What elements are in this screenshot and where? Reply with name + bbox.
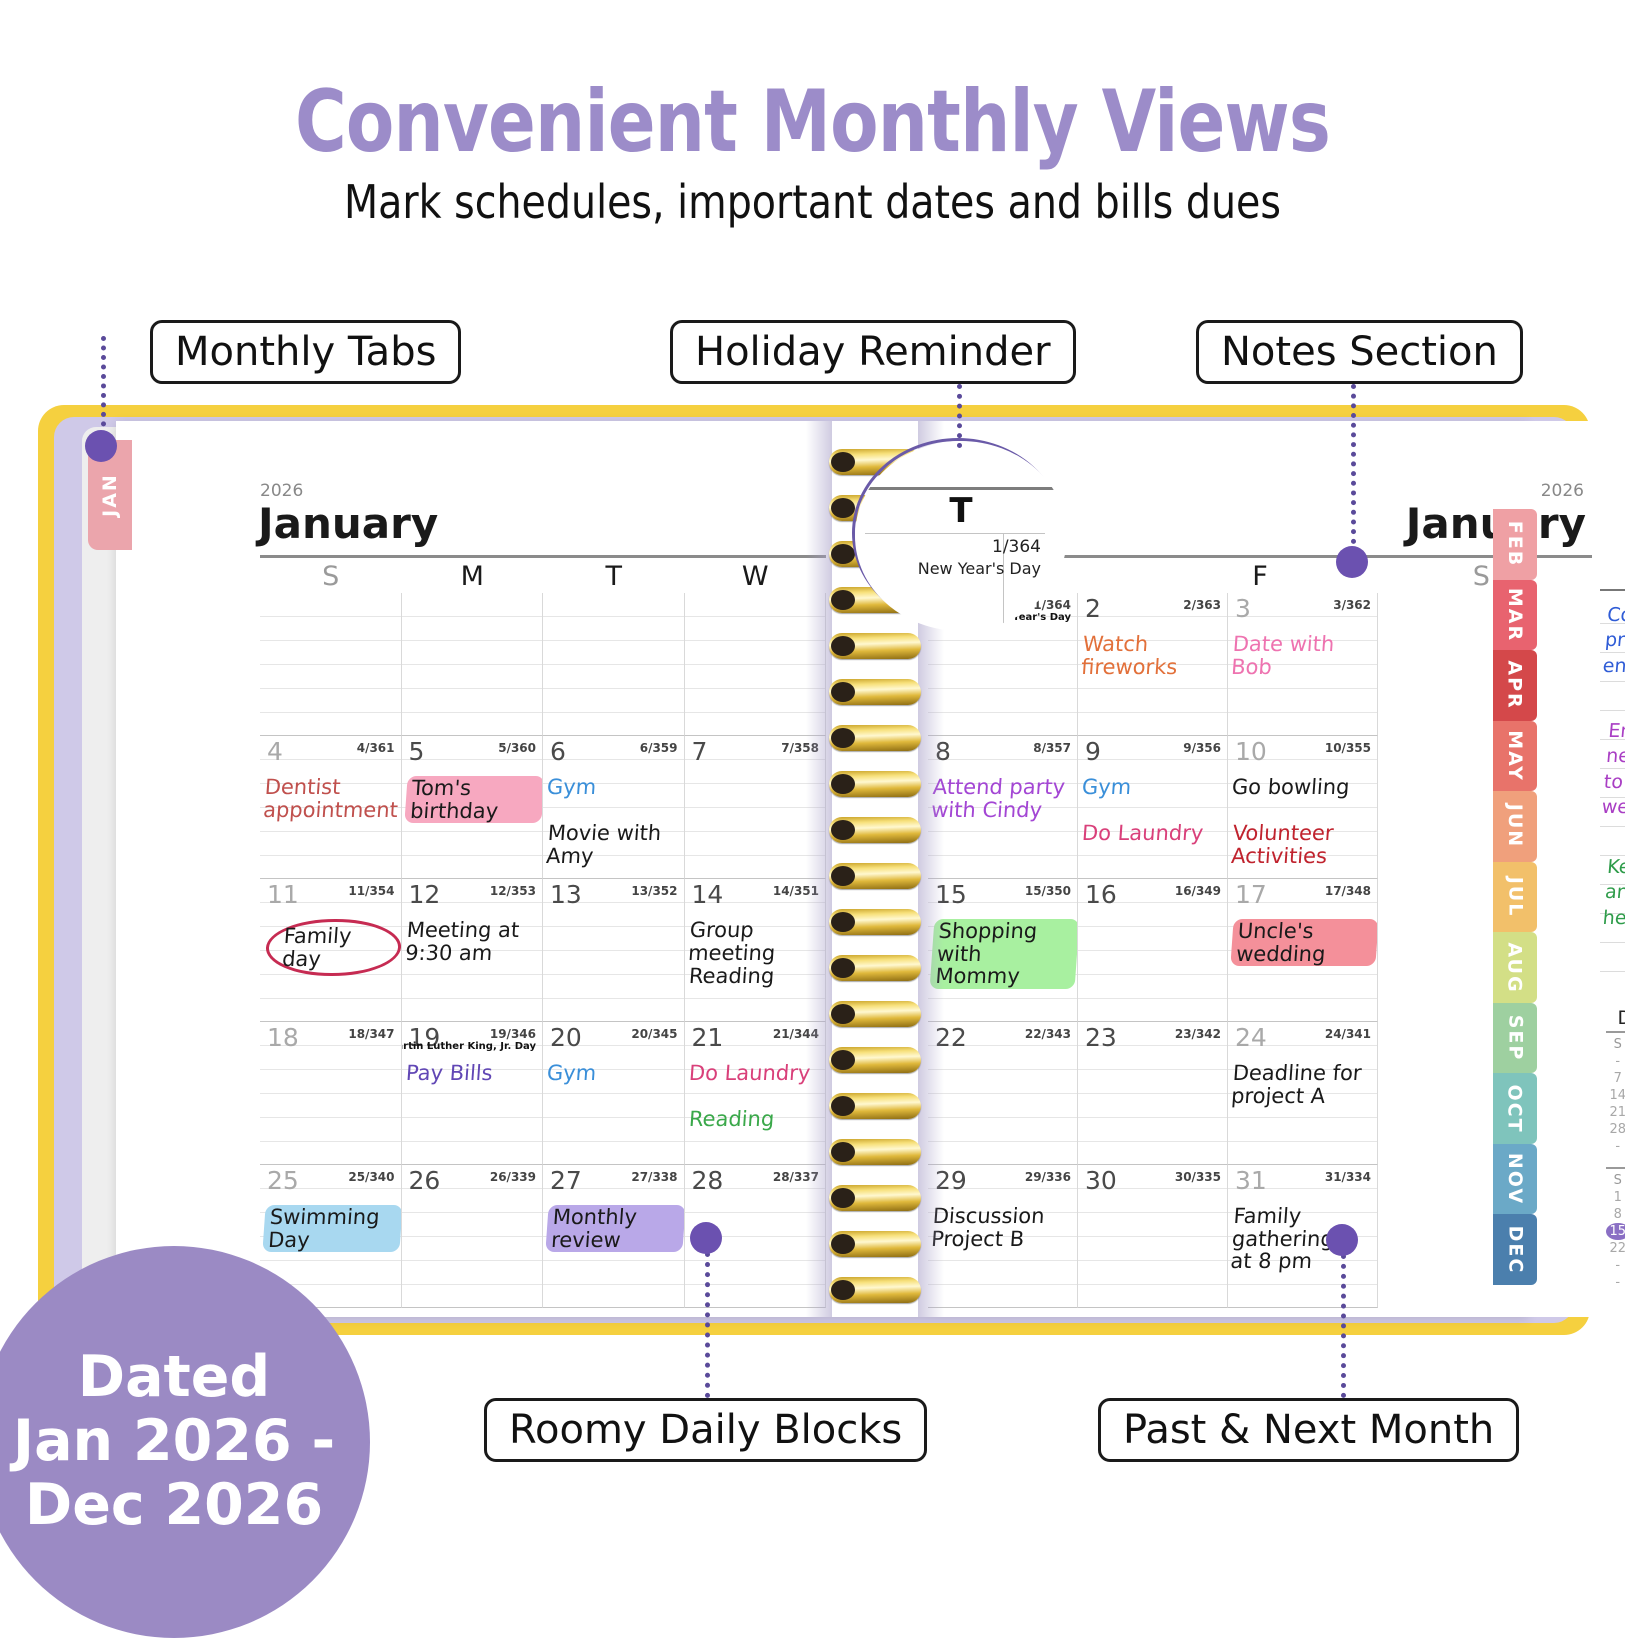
day-cell-29[interactable]: 2929/336Discussion Project B — [928, 1165, 1078, 1308]
day-cell-5[interactable]: 55/360Tom's birthday — [402, 736, 544, 879]
spiral-coil — [829, 863, 921, 889]
day-entry[interactable]: Monthly review — [545, 1205, 684, 1252]
month-tab-oct[interactable]: OCT — [1493, 1073, 1537, 1144]
mini-day[interactable]: - — [1606, 1053, 1625, 1070]
spiral-coil — [829, 1231, 921, 1257]
magnifier-holiday-name: New Year's Day — [855, 559, 1041, 578]
month-tab-label: MAR — [1504, 588, 1526, 642]
day-cell-21[interactable]: 2121/344Do LaundryReading — [685, 1022, 827, 1165]
day-number: 21 — [692, 1023, 724, 1052]
day-entry[interactable]: Gym — [546, 776, 597, 799]
day-number: 28 — [692, 1166, 724, 1195]
day-entry[interactable]: Shopping with Mommy — [930, 919, 1078, 989]
spiral-coil — [829, 955, 921, 981]
page-subtitle: Mark schedules, important dates and bill… — [114, 175, 1512, 229]
leader-line-roomy — [705, 1252, 710, 1398]
day-number: 26 — [409, 1166, 441, 1195]
day-entry[interactable]: Reading — [688, 965, 775, 988]
magnifier-rule — [863, 487, 1059, 490]
left-day-of-week-row: SMTW — [260, 559, 826, 593]
day-number: 27 — [550, 1166, 582, 1195]
day-entry[interactable]: Date with Bob — [1230, 633, 1335, 678]
day-number: 2 — [1085, 594, 1101, 623]
day-of-year: 15/350 — [1025, 884, 1071, 898]
day-number: 9 — [1085, 737, 1101, 766]
spiral-coil — [829, 679, 921, 705]
day-number: 12 — [409, 880, 441, 909]
spiral-coil — [829, 1277, 921, 1303]
callout-monthly-tabs: Monthly Tabs — [150, 320, 461, 384]
mini-calendar-table: SMTWTFS-12345678910111213141516171819202… — [1606, 1036, 1625, 1155]
holiday-magnifier: T 1/364 New Year's Day — [852, 438, 1064, 628]
day-number: 25 — [267, 1166, 299, 1195]
day-number: 5 — [409, 737, 425, 766]
day-cell-rules — [402, 593, 543, 735]
spiral-coil — [829, 725, 921, 751]
leader-dot-pastnext — [1326, 1224, 1358, 1256]
day-of-year: 3/362 — [1333, 598, 1371, 612]
month-tab-label: JUN — [1504, 804, 1526, 848]
day-number: 29 — [935, 1166, 967, 1195]
day-cell-empty[interactable] — [685, 593, 827, 736]
day-cell-20[interactable]: 2020/345Gym — [543, 1022, 685, 1165]
day-cell-11[interactable]: 1111/354Family day — [260, 879, 402, 1022]
left-page: 2026 January SMTW 44/361Dentist appointm… — [194, 421, 830, 1317]
month-tab-dec[interactable]: DEC — [1493, 1214, 1537, 1285]
day-entry[interactable]: Gym — [546, 1062, 597, 1085]
day-cell-27[interactable]: 2727/338Monthly review — [543, 1165, 685, 1308]
day-entry[interactable]: Do Laundry — [688, 1062, 811, 1085]
dow-s-2: S — [1371, 559, 1592, 593]
day-cell-14[interactable]: 1414/351Group meetingReading — [685, 879, 827, 1022]
day-cell-3[interactable]: 33/362Date with Bob — [1228, 593, 1378, 736]
day-cell-13[interactable]: 1313/352 — [543, 879, 685, 1022]
day-entry[interactable]: Volunteer Activities — [1230, 822, 1334, 867]
day-cell-4[interactable]: 44/361Dentist appointment — [260, 736, 402, 879]
spiral-coil — [829, 1047, 921, 1073]
spiral-coil — [829, 771, 921, 797]
day-cell-19[interactable]: 1919/346Martin Luther King, Jr. DayPay B… — [402, 1022, 544, 1165]
day-number: 31 — [1235, 1166, 1267, 1195]
day-number: 16 — [1085, 880, 1117, 909]
month-tab-aug[interactable]: AUG — [1493, 932, 1537, 1003]
mini-calendar-week: 22232425262728 — [1606, 1240, 1625, 1257]
day-cell-18[interactable]: 1818/347 — [260, 1022, 402, 1165]
day-cell-15[interactable]: 1515/350Shopping with Mommy — [928, 879, 1078, 1022]
day-entry[interactable]: Uncle's wedding — [1230, 919, 1378, 966]
mini-calendar-title: December 2025 — [1606, 1007, 1625, 1031]
mini-calendar-week: 14151617181920 — [1606, 1087, 1625, 1104]
day-cell-22[interactable]: 2222/343 — [928, 1022, 1078, 1165]
mini-dow: S — [1606, 1036, 1625, 1053]
mini-calendar-week: 15161718192021 — [1606, 1223, 1625, 1240]
day-entry[interactable]: Tom's birthday — [404, 776, 543, 823]
day-of-year: 17/348 — [1325, 884, 1371, 898]
day-entry[interactable]: Group meeting — [687, 919, 826, 964]
day-of-year: 16/349 — [1175, 884, 1221, 898]
magnifier-dow: T — [855, 491, 1067, 531]
day-of-year: 21/344 — [773, 1027, 819, 1041]
day-cell-16[interactable]: 1616/349 — [1078, 879, 1228, 1022]
day-cell-2[interactable]: 22/363Watch fireworks — [1078, 593, 1228, 736]
notes-title: Notes — [1600, 555, 1625, 589]
month-tab-label: AUG — [1504, 942, 1526, 993]
mini-calendar-1: December 2025SMTWTFS-1234567891011121314… — [1606, 1007, 1625, 1155]
day-of-year: 9/356 — [1183, 741, 1221, 755]
day-number: 23 — [1085, 1023, 1117, 1052]
month-tab-label: MAY — [1504, 730, 1526, 782]
dated-range-badge: Dated Jan 2026 - Dec 2026 — [0, 1246, 370, 1638]
month-tab-nov[interactable]: NOV — [1493, 1144, 1537, 1215]
day-number: 15 — [935, 880, 967, 909]
month-tab-may[interactable]: MAY — [1493, 721, 1537, 792]
mini-day[interactable]: 7 — [1606, 1070, 1625, 1087]
leader-line-holiday — [957, 384, 962, 448]
day-cell-24[interactable]: 2424/341Deadline for project A — [1228, 1022, 1378, 1165]
dow-s-0: S — [260, 559, 402, 593]
day-cell-10[interactable]: 1010/355Go bowlingVolunteer Activities — [1228, 736, 1378, 879]
day-entry[interactable]: Watch fireworks — [1080, 633, 1228, 678]
spiral-coil — [829, 909, 921, 935]
leader-dot-roomy — [690, 1222, 722, 1254]
month-tab-jul[interactable]: JUL — [1493, 862, 1537, 933]
month-tabs-right: FEBMARAPRMAYJUNJULAUGSEPOCTNOVDEC — [1493, 509, 1537, 1285]
mini-calendar-rule — [1606, 1167, 1625, 1169]
month-tab-apr[interactable]: APR — [1493, 650, 1537, 721]
leader-dot-monthly-tabs — [85, 430, 117, 462]
week-row: 1111/354Family day1212/353Meeting at 9:3… — [260, 879, 826, 1022]
callout-past-next-month: Past & Next Month — [1098, 1398, 1519, 1462]
spiral-coil — [829, 1001, 921, 1027]
mini-calendar-week: 21222324252627 — [1606, 1104, 1625, 1121]
day-number: 7 — [692, 737, 708, 766]
mini-day[interactable]: 14 — [1606, 1087, 1625, 1104]
spiral-coil — [829, 633, 921, 659]
day-entry[interactable]: Do Laundry — [1081, 822, 1204, 845]
holiday-magnifier-content: T 1/364 New Year's Day — [855, 441, 1067, 631]
month-tab-feb[interactable]: FEB — [1493, 509, 1537, 580]
month-tab-label: NOV — [1504, 1153, 1526, 1205]
callout-holiday-reminder: Holiday Reminder — [670, 320, 1076, 384]
mini-dow: S — [1606, 1172, 1625, 1189]
week-row: 1515/350Shopping with Mommy1616/3491717/… — [928, 879, 1378, 1022]
day-number: 6 — [550, 737, 566, 766]
day-entry[interactable]: Dentist appointment — [262, 776, 400, 821]
day-of-year: 2/363 — [1183, 598, 1221, 612]
badge-line-1: Dated — [78, 1346, 271, 1410]
day-cell-rules — [685, 593, 826, 735]
month-tab-sep[interactable]: SEP — [1493, 1003, 1537, 1074]
day-cell-empty[interactable] — [543, 593, 685, 736]
day-of-year: 29/336 — [1025, 1170, 1071, 1184]
day-entry[interactable]: Meeting at 9:30 am — [404, 919, 520, 964]
day-cell-rules — [260, 593, 401, 735]
page-title: Convenient Monthly Views — [146, 72, 1479, 172]
day-of-year: 6/359 — [640, 741, 678, 755]
spiral-coil — [829, 817, 921, 843]
day-cell-empty[interactable] — [402, 593, 544, 736]
day-entry[interactable]: Gym — [1081, 776, 1132, 799]
callout-roomy-daily-blocks: Roomy Daily Blocks — [484, 1398, 927, 1462]
day-entry[interactable]: Swimming Day — [262, 1205, 401, 1252]
mini-day[interactable]: 1 — [1606, 1189, 1625, 1206]
day-entry[interactable]: Deadline for project A — [1230, 1062, 1362, 1107]
day-of-year: 20/345 — [631, 1027, 677, 1041]
mini-day[interactable]: - — [1606, 1274, 1625, 1291]
left-page-month: January — [258, 499, 438, 548]
day-of-year: 5/360 — [498, 741, 536, 755]
day-number: 14 — [692, 880, 724, 909]
day-cell-7[interactable]: 77/358 — [685, 736, 827, 879]
leader-line-notes — [1351, 384, 1356, 544]
planner-open-spread: 2026 January SMTW 44/361Dentist appointm… — [116, 421, 1528, 1317]
day-cell-rules — [543, 593, 684, 735]
mini-calendar-rule — [1606, 1031, 1625, 1033]
mini-calendar-week: 1234567 — [1606, 1189, 1625, 1206]
day-cell-23[interactable]: 2323/342 — [1078, 1022, 1228, 1165]
dow-w-3: W — [685, 559, 827, 593]
week-row: 44/361Dentist appointment55/360Tom's bir… — [260, 736, 826, 879]
day-number: 17 — [1235, 880, 1267, 909]
month-tab-label: FEB — [1504, 521, 1526, 567]
month-tab-label: JUL — [1504, 877, 1526, 918]
month-tab-jan-label: JAN — [99, 473, 121, 517]
day-number: 3 — [1235, 594, 1251, 623]
mini-calendar-week: ------- — [1606, 1274, 1625, 1291]
month-tab-jun[interactable]: JUN — [1493, 791, 1537, 862]
week-row — [260, 593, 826, 736]
month-tab-label: SEP — [1504, 1015, 1526, 1062]
month-tab-label: OCT — [1504, 1084, 1526, 1133]
left-page-rule — [260, 555, 826, 558]
day-of-year: 24/341 — [1325, 1027, 1371, 1041]
day-number: 22 — [935, 1023, 967, 1052]
left-month-grid: 44/361Dentist appointment55/360Tom's bir… — [260, 593, 826, 1308]
leader-line-pastnext — [1341, 1254, 1346, 1398]
month-tab-label: DEC — [1504, 1225, 1526, 1274]
day-of-year: 14/351 — [773, 884, 819, 898]
right-page-year: 2026 — [1541, 481, 1584, 501]
day-number: 11 — [267, 880, 299, 909]
badge-line-2: Jan 2026 - — [13, 1410, 335, 1474]
magnifier-cell-line — [865, 533, 1045, 534]
mini-calendar-week: 28293031--- — [1606, 1121, 1625, 1138]
notes-title-rule — [1600, 589, 1625, 591]
mini-calendar-table: SMTWTFS123456789101112131415161718192021… — [1606, 1172, 1625, 1291]
day-entry[interactable]: Discussion Project B — [930, 1205, 1045, 1250]
day-of-year: 12/353 — [490, 884, 536, 898]
day-of-year: 18/347 — [348, 1027, 394, 1041]
week-row: 2222/3432323/3422424/341Deadline for pro… — [928, 1022, 1378, 1165]
day-of-year: 10/355 — [1325, 741, 1371, 755]
mini-day[interactable]: 15 — [1606, 1223, 1625, 1240]
month-tab-mar[interactable]: MAR — [1493, 580, 1537, 651]
mini-calendar-week: ------- — [1606, 1257, 1625, 1274]
dow-m-1: M — [402, 559, 544, 593]
magnifier-day-of-year: 1/364 — [855, 537, 1041, 557]
day-of-year: 27/338 — [631, 1170, 677, 1184]
week-row: 2929/336Discussion Project B3030/3353131… — [928, 1165, 1378, 1308]
spiral-coil — [829, 1139, 921, 1165]
day-number: 13 — [550, 880, 582, 909]
right-month-grid: 11/364New Year's Day22/363Watch firework… — [928, 593, 1378, 1308]
day-cell-empty[interactable] — [260, 593, 402, 736]
day-cell-8[interactable]: 88/357Attend party with Cindy — [928, 736, 1078, 879]
day-entry[interactable]: Attend party with Cindy — [930, 776, 1065, 821]
day-entry[interactable]: Go bowling — [1231, 776, 1350, 799]
mini-day[interactable]: 28 — [1606, 1121, 1625, 1138]
day-of-year: 26/339 — [490, 1170, 536, 1184]
day-number: 30 — [1085, 1166, 1117, 1195]
day-of-year: 25/340 — [348, 1170, 394, 1184]
left-page-year: 2026 — [260, 481, 303, 501]
day-number: 20 — [550, 1023, 582, 1052]
day-cell-17[interactable]: 1717/348Uncle's wedding — [1228, 879, 1378, 1022]
day-of-year: 22/343 — [1025, 1027, 1071, 1041]
day-entry[interactable]: Reading — [688, 1108, 775, 1131]
day-of-year: 7/358 — [781, 741, 819, 755]
mini-calendar-header-row: SMTWTFS — [1606, 1172, 1625, 1189]
day-of-year: 31/334 — [1325, 1170, 1371, 1184]
mini-calendar-week: 78910111213 — [1606, 1070, 1625, 1087]
week-row: 88/357Attend party with Cindy99/356GymDo… — [928, 736, 1378, 879]
day-number: 8 — [935, 737, 951, 766]
day-of-year: 13/352 — [631, 884, 677, 898]
day-number: 18 — [267, 1023, 299, 1052]
planner-spread: JAN 2026 January SMTW 44/361Dentist appo… — [38, 405, 1590, 1335]
day-number: 24 — [1235, 1023, 1267, 1052]
day-of-year: 23/342 — [1175, 1027, 1221, 1041]
mini-calendar-week: -123456 — [1606, 1053, 1625, 1070]
week-row: 2525/340Swimming Day2626/3392727/338Mont… — [260, 1165, 826, 1308]
mini-day[interactable]: - — [1606, 1257, 1625, 1274]
day-of-year: 28/337 — [773, 1170, 819, 1184]
day-cell-26[interactable]: 2626/339 — [402, 1165, 544, 1308]
mini-calendar-week: 891011121314 — [1606, 1206, 1625, 1223]
day-of-year: 11/354 — [348, 884, 394, 898]
day-entry[interactable]: Pay Bills — [405, 1062, 493, 1085]
day-number: 10 — [1235, 737, 1267, 766]
mini-calendar-2: February 2026SMTWTFS12345678910111213141… — [1606, 1143, 1625, 1291]
spiral-coil — [829, 1185, 921, 1211]
leader-line-monthly-tabs — [101, 336, 106, 436]
month-tab-label: APR — [1504, 661, 1526, 710]
week-row: 1818/3471919/346Martin Luther King, Jr. … — [260, 1022, 826, 1165]
mini-calendar-header-row: SMTWTFS — [1606, 1036, 1625, 1053]
day-entry[interactable]: Movie with Amy — [545, 822, 684, 867]
day-number: 4 — [267, 737, 283, 766]
day-of-year: 8/357 — [1033, 741, 1071, 755]
mini-day[interactable]: 22 — [1606, 1240, 1625, 1257]
leader-dot-notes — [1336, 546, 1368, 578]
mini-calendar-title: February 2026 — [1606, 1143, 1625, 1167]
day-of-year: 30/335 — [1175, 1170, 1221, 1184]
spiral-coil — [829, 1093, 921, 1119]
mini-day[interactable]: 8 — [1606, 1206, 1625, 1223]
day-of-year: 19/346 — [490, 1027, 536, 1041]
badge-line-3: Dec 2026 — [25, 1474, 323, 1538]
day-cell-30[interactable]: 3030/335 — [1078, 1165, 1228, 1308]
mini-day[interactable]: 21 — [1606, 1104, 1625, 1121]
day-cell-6[interactable]: 66/359GymMovie with Amy — [543, 736, 685, 879]
day-cell-12[interactable]: 1212/353Meeting at 9:30 am — [402, 879, 544, 1022]
day-of-year: 4/361 — [357, 741, 395, 755]
dow-t-2: T — [543, 559, 685, 593]
holiday-label: Martin Luther King, Jr. Day — [402, 1041, 537, 1052]
callout-notes-section: Notes Section — [1196, 320, 1523, 384]
day-cell-9[interactable]: 99/356GymDo Laundry — [1078, 736, 1228, 879]
